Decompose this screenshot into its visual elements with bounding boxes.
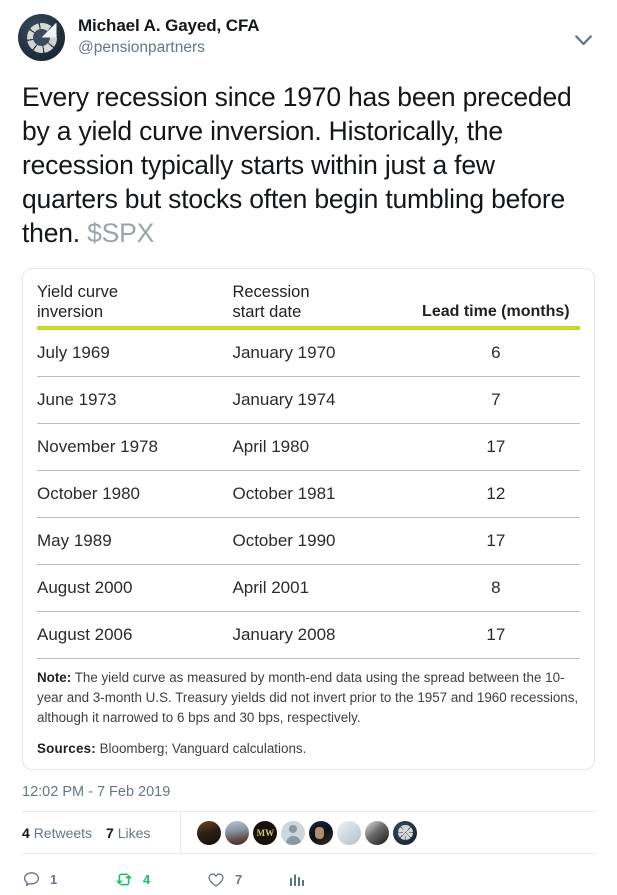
table-row: May 1989 October 1990 17 bbox=[37, 518, 580, 565]
table-row: November 1978 April 1980 17 bbox=[37, 424, 580, 471]
facepile-avatar[interactable] bbox=[309, 821, 333, 845]
tweet-text: Every recession since 1970 has been prec… bbox=[18, 66, 599, 250]
table-row: October 1980 October 1981 12 bbox=[37, 471, 580, 518]
cell-inversion: May 1989 bbox=[37, 518, 232, 565]
facepile-avatar[interactable] bbox=[393, 821, 417, 845]
cell-lead-time: 17 bbox=[412, 424, 580, 471]
cell-inversion: November 1978 bbox=[37, 424, 232, 471]
like-button[interactable]: 7 bbox=[206, 870, 288, 889]
column-header-recession: Recession start date bbox=[232, 282, 411, 326]
facepile-avatar[interactable] bbox=[225, 821, 249, 845]
column-header-inversion: Yield curve inversion bbox=[37, 282, 232, 326]
cell-recession: January 1970 bbox=[232, 330, 411, 377]
table-body: July 1969 January 1970 6 June 1973 Janua… bbox=[37, 330, 580, 659]
cell-recession: April 1980 bbox=[232, 424, 411, 471]
reply-count: 1 bbox=[50, 872, 57, 887]
facepile-avatar[interactable] bbox=[281, 821, 305, 845]
author-display-name[interactable]: Michael A. Gayed, CFA bbox=[78, 15, 260, 37]
retweets-count: 4 bbox=[22, 825, 30, 841]
table-row: June 1973 January 1974 7 bbox=[37, 377, 580, 424]
column-header-recession-line2: start date bbox=[232, 303, 301, 321]
retweets-label: Retweets bbox=[34, 825, 92, 841]
table-row: August 2006 January 2008 17 bbox=[37, 612, 580, 659]
cashtag-link[interactable]: $SPX bbox=[87, 218, 154, 248]
facepile bbox=[181, 821, 417, 845]
cell-inversion: August 2000 bbox=[37, 565, 232, 612]
cell-recession: October 1990 bbox=[232, 518, 411, 565]
tweet-stats-row: 4 Retweets 7 Likes bbox=[22, 811, 595, 853]
author-identity: Michael A. Gayed, CFA @pensionpartners bbox=[78, 14, 260, 58]
cell-inversion: October 1980 bbox=[37, 471, 232, 518]
analytics-button[interactable] bbox=[288, 871, 328, 889]
cell-lead-time: 12 bbox=[412, 471, 580, 518]
table-header-row: Yield curve inversion Recession start da… bbox=[37, 282, 580, 326]
column-header-recession-line1: Recession bbox=[232, 283, 309, 301]
tweet-timestamp[interactable]: 12:02 PM - 7 Feb 2019 bbox=[18, 770, 599, 811]
cell-recession: January 1974 bbox=[232, 377, 411, 424]
tweet-container: Michael A. Gayed, CFA @pensionpartners E… bbox=[0, 0, 617, 895]
cell-recession: October 1981 bbox=[232, 471, 411, 518]
table-note-text: The yield curve as measured by month-end… bbox=[37, 670, 578, 725]
reply-button[interactable]: 1 bbox=[22, 870, 114, 889]
chevron-down-icon bbox=[575, 35, 592, 46]
analytics-bars-icon bbox=[288, 871, 306, 889]
facepile-avatar[interactable] bbox=[197, 821, 221, 845]
cell-recession: January 2008 bbox=[232, 612, 411, 659]
retweets-stat[interactable]: 4 Retweets bbox=[22, 825, 92, 841]
tweet-action-bar: 1 4 7 bbox=[22, 853, 595, 895]
cell-recession: April 2001 bbox=[232, 565, 411, 612]
table-note: Note: The yield curve as measured by mon… bbox=[37, 668, 580, 728]
facepile-avatar[interactable] bbox=[337, 821, 361, 845]
reply-icon bbox=[22, 870, 41, 889]
table-head: Yield curve inversion Recession start da… bbox=[37, 282, 580, 330]
yield-curve-table: Yield curve inversion Recession start da… bbox=[37, 282, 580, 659]
table-sources-label: Sources: bbox=[37, 741, 96, 756]
retweet-button[interactable]: 4 bbox=[114, 870, 206, 889]
cell-inversion: July 1969 bbox=[37, 330, 232, 377]
cell-inversion: August 2006 bbox=[37, 612, 232, 659]
cell-lead-time: 6 bbox=[412, 330, 580, 377]
tweet-media-card[interactable]: Yield curve inversion Recession start da… bbox=[22, 268, 595, 770]
heart-icon bbox=[206, 870, 226, 889]
avatar[interactable] bbox=[18, 14, 65, 61]
column-header-inversion-line2: inversion bbox=[37, 303, 103, 321]
cell-lead-time: 17 bbox=[412, 518, 580, 565]
cell-inversion: June 1973 bbox=[37, 377, 232, 424]
column-header-lead-time: Lead time (months) bbox=[412, 282, 580, 326]
facepile-avatar[interactable] bbox=[365, 821, 389, 845]
like-count: 7 bbox=[235, 872, 242, 887]
column-header-inversion-line1: Yield curve bbox=[37, 283, 118, 301]
retweet-icon bbox=[114, 870, 134, 889]
table-sources-text: Bloomberg; Vanguard calculations. bbox=[96, 741, 306, 756]
cell-lead-time: 17 bbox=[412, 612, 580, 659]
more-options-button[interactable] bbox=[569, 26, 597, 54]
cell-lead-time: 8 bbox=[412, 565, 580, 612]
facepile-avatar[interactable] bbox=[253, 821, 277, 845]
table-row: July 1969 January 1970 6 bbox=[37, 330, 580, 377]
tweet-header: Michael A. Gayed, CFA @pensionpartners bbox=[18, 0, 599, 66]
retweet-count: 4 bbox=[143, 872, 150, 887]
author-handle[interactable]: @pensionpartners bbox=[78, 38, 260, 58]
likes-count: 7 bbox=[106, 825, 114, 841]
table-sources: Sources: Bloomberg; Vanguard calculation… bbox=[37, 739, 580, 759]
table-note-label: Note: bbox=[37, 670, 71, 685]
likes-label: Likes bbox=[118, 825, 151, 841]
stat-counts-group: 4 Retweets 7 Likes bbox=[22, 812, 181, 853]
cell-lead-time: 7 bbox=[412, 377, 580, 424]
table-row: August 2000 April 2001 8 bbox=[37, 565, 580, 612]
likes-stat[interactable]: 7 Likes bbox=[106, 825, 150, 841]
